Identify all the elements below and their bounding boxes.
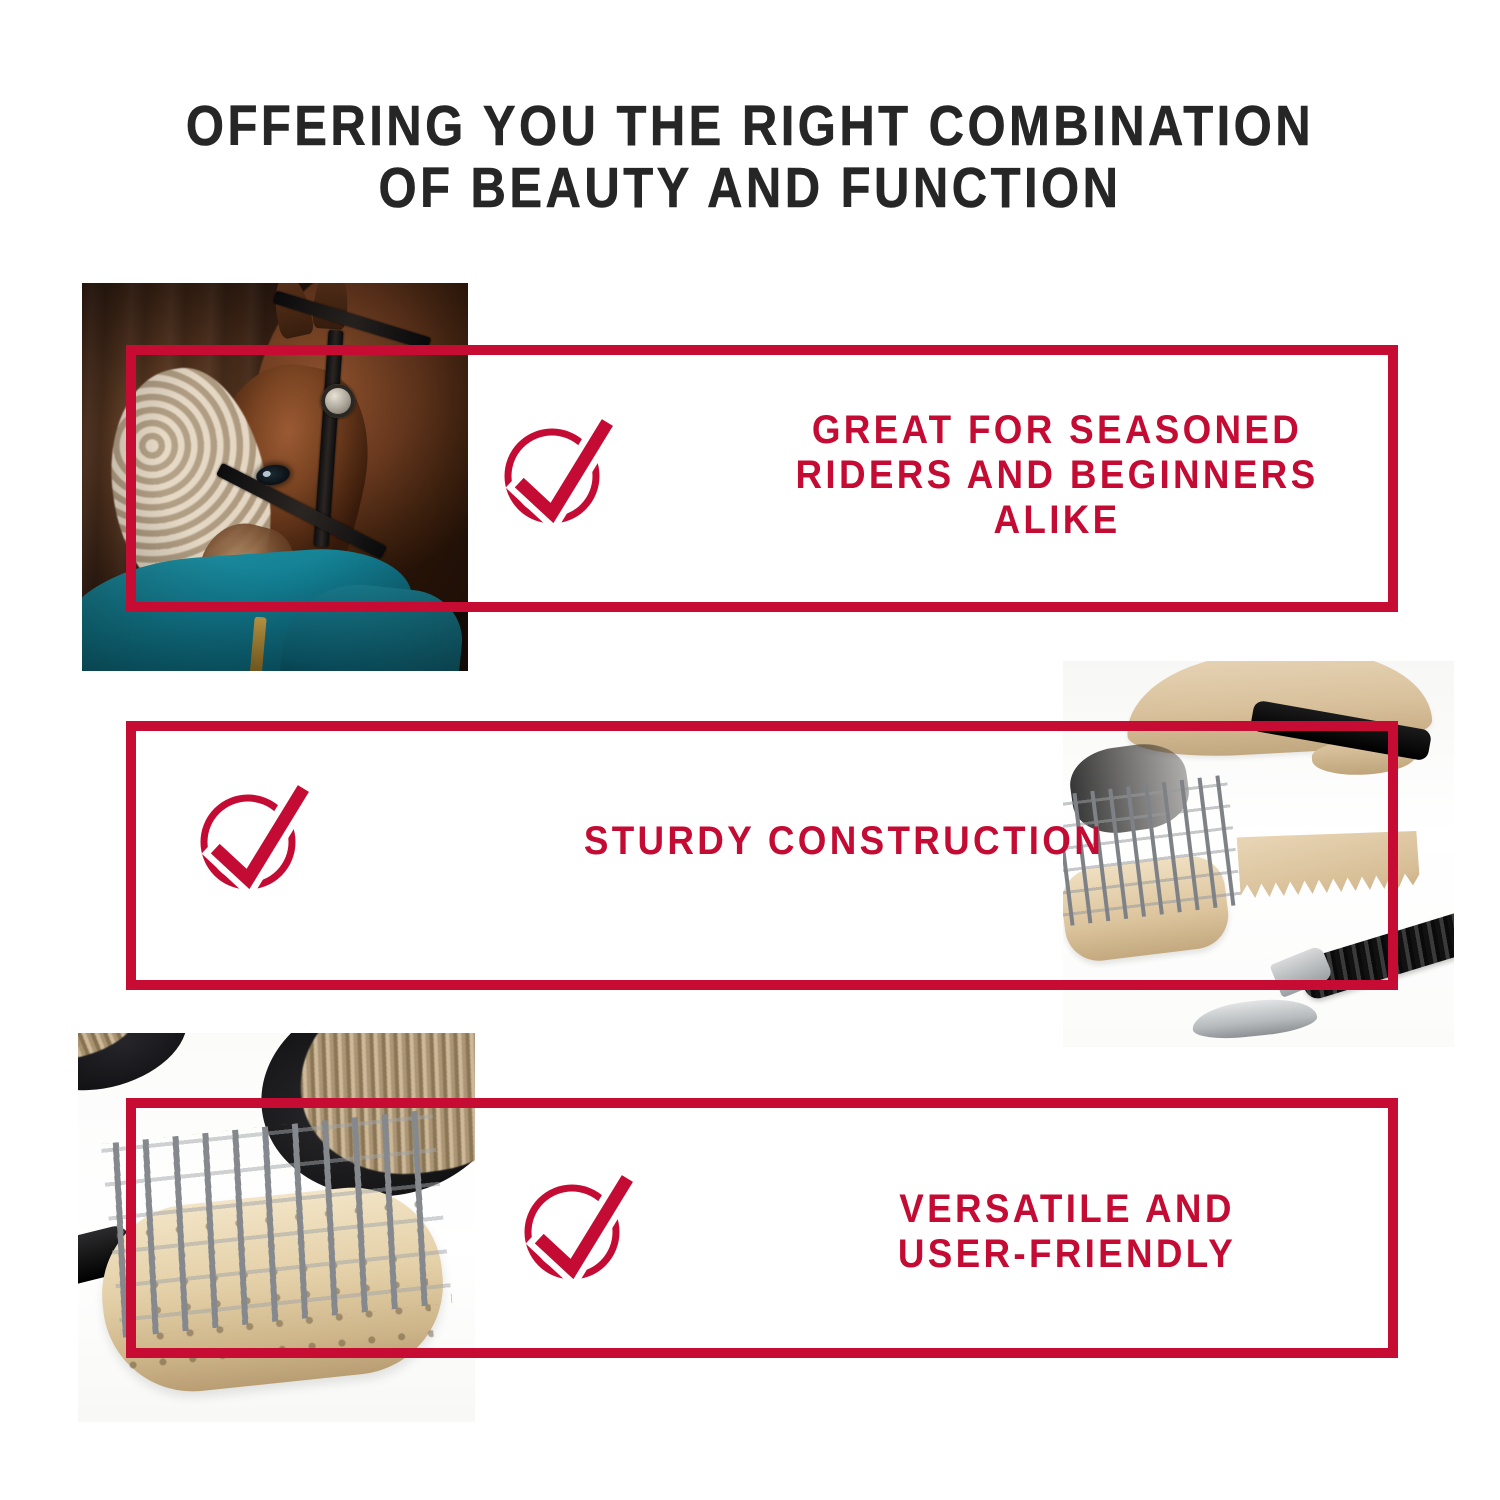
check-circle-icon — [500, 414, 618, 537]
feature-line-1: STURDY CONSTRUCTION — [430, 819, 1258, 864]
feature-line-2: RIDERS AND BEGINNERS — [741, 453, 1372, 498]
feature-item-versatile-user-friendly: VERSATILE AND USER-FRIENDLY — [520, 1170, 1400, 1293]
check-circle-icon — [520, 1170, 638, 1293]
feature-label-seasoned-riders: GREAT FOR SEASONED RIDERS AND BEGINNERS … — [741, 408, 1372, 542]
feature-line-1: VERSATILE AND — [761, 1187, 1374, 1232]
page-title: OFFERING YOU THE RIGHT COMBINATION OF BE… — [105, 96, 1395, 219]
check-circle-icon — [196, 780, 314, 903]
feature-line-1: GREAT FOR SEASONED — [741, 408, 1372, 453]
page-title-line-1: OFFERING YOU THE RIGHT COMBINATION — [105, 96, 1395, 158]
page-title-line-2: OF BEAUTY AND FUNCTION — [105, 158, 1395, 220]
feature-item-seasoned-riders: GREAT FOR SEASONED RIDERS AND BEGINNERS … — [500, 408, 1400, 542]
feature-line-3: ALIKE — [741, 498, 1372, 543]
promo-feature-panel: OFFERING YOU THE RIGHT COMBINATION OF BE… — [0, 0, 1500, 1500]
feature-label-versatile-user-friendly: VERSATILE AND USER-FRIENDLY — [761, 1187, 1374, 1277]
feature-item-sturdy-construction: STURDY CONSTRUCTION — [196, 780, 1376, 903]
feature-line-2: USER-FRIENDLY — [761, 1232, 1374, 1277]
feature-label-sturdy-construction: STURDY CONSTRUCTION — [430, 819, 1258, 864]
